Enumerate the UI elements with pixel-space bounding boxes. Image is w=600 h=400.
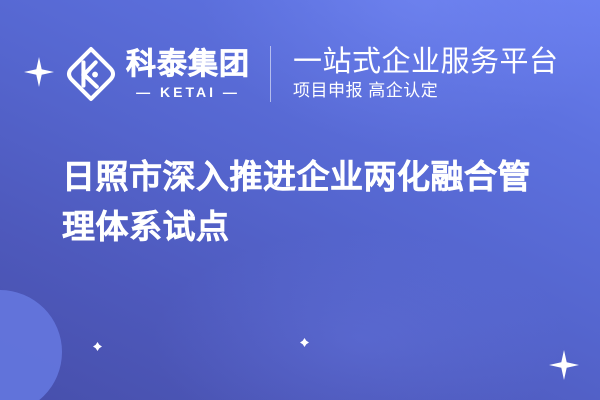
circle-decoration-bottom-left (0, 290, 62, 400)
sparkle-icon-small-left (93, 342, 102, 351)
banner-header: 科泰集团 — KETAI — 一站式企业服务平台 项目申报 高企认定 (0, 36, 600, 112)
tagline-sub-text: 项目申报 高企认定 (293, 82, 559, 101)
brand-text: 科泰集团 — KETAI — (126, 50, 250, 99)
brand-name-en: — KETAI — (136, 85, 240, 99)
sparkle-icon-small-center (300, 338, 309, 347)
brand-name-cn: 科泰集团 (126, 50, 250, 80)
ketai-logo-icon (62, 45, 120, 103)
tagline-block: 一站式企业服务平台 项目申报 高企认定 (293, 47, 559, 101)
sparkle-icon-bottom-right (549, 350, 579, 380)
banner-title: 日照市深入推进企业两化融合管理体系试点 (62, 152, 546, 252)
brand-lockup[interactable]: 科泰集团 — KETAI — (62, 45, 250, 103)
header-divider (270, 46, 271, 102)
tagline-main-text: 一站式企业服务平台 (293, 47, 559, 78)
background-glow-middle (150, 230, 570, 400)
promo-banner: 科泰集团 — KETAI — 一站式企业服务平台 项目申报 高企认定 日照市深入… (0, 0, 600, 400)
